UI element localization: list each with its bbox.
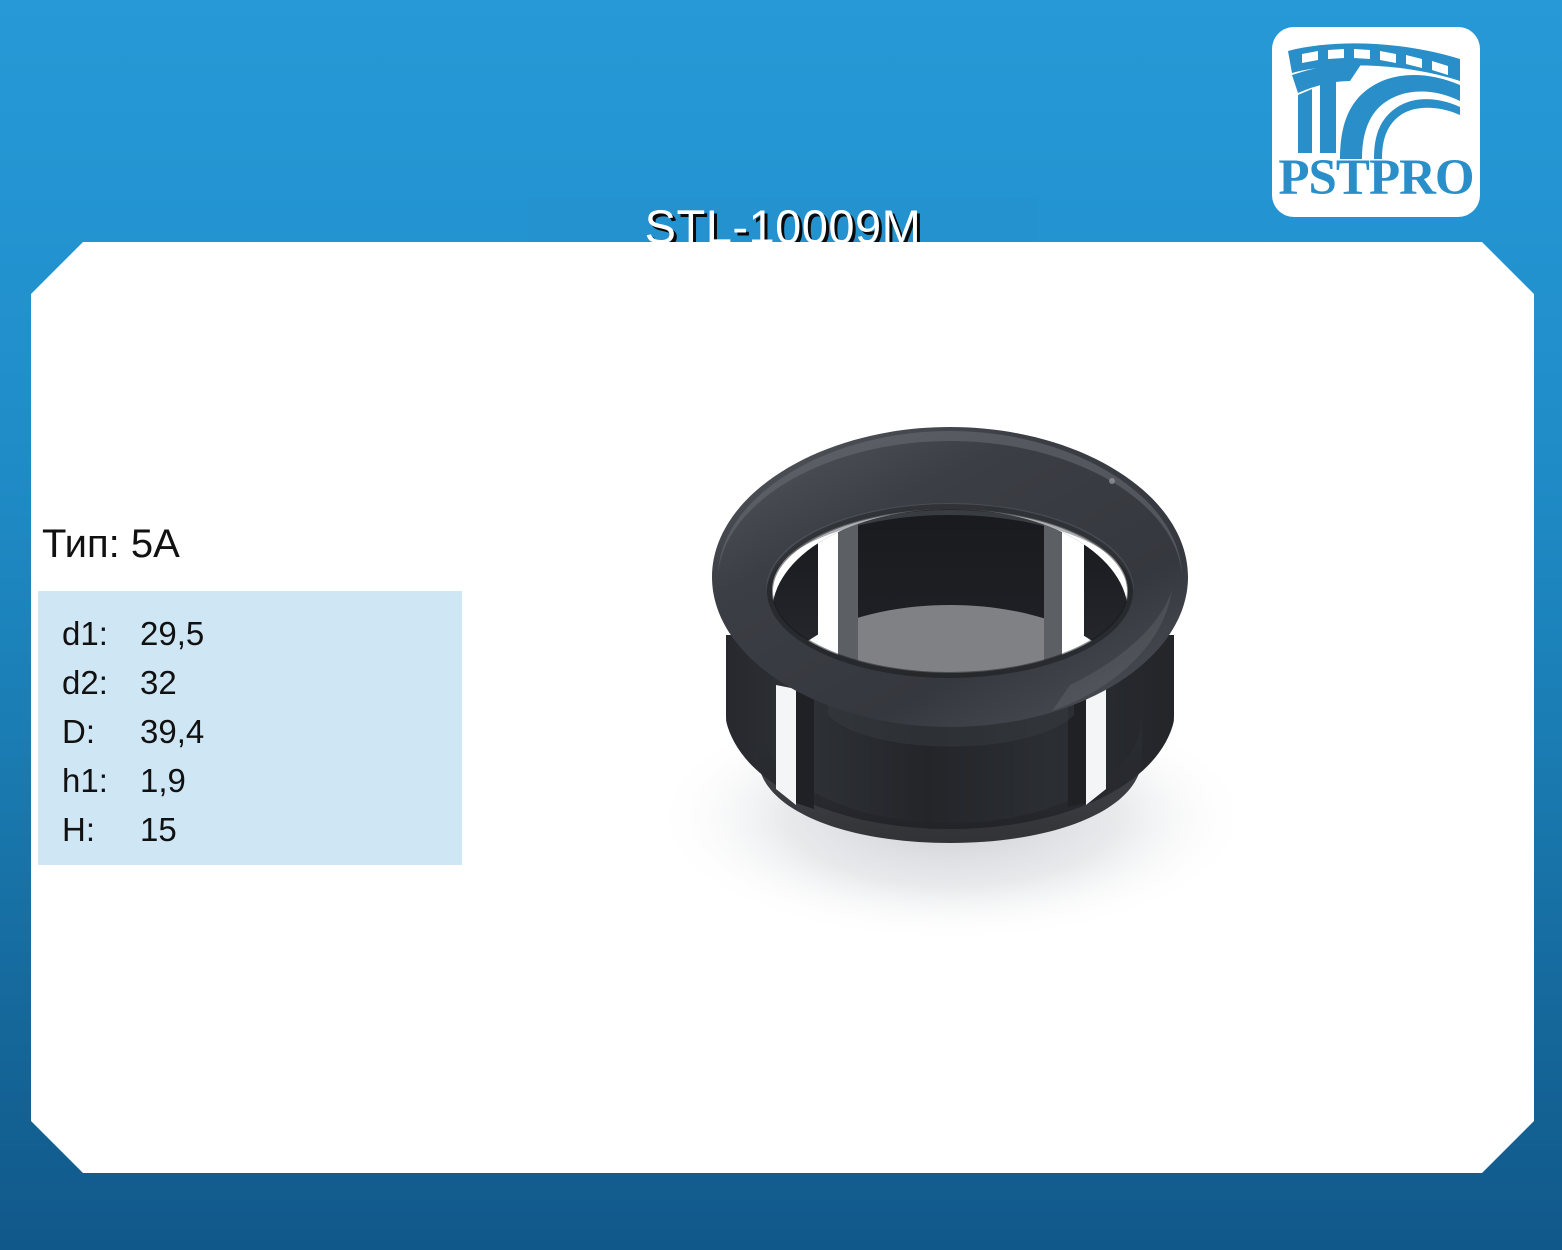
spec-key: h1: xyxy=(62,756,140,805)
spec-row: h1: 1,9 xyxy=(62,756,462,805)
spec-type-value: 5A xyxy=(131,522,180,566)
spec-type-heading: Тип: 5A xyxy=(42,524,180,564)
spec-row: d2: 32 xyxy=(62,658,462,707)
spec-row: D: 39,4 xyxy=(62,707,462,756)
spec-value: 32 xyxy=(140,658,462,707)
brand-wordmark: PSTPRO xyxy=(1272,153,1480,204)
spec-key: d1: xyxy=(62,609,140,658)
spec-value: 39,4 xyxy=(140,707,462,756)
bushing-ring-image xyxy=(600,385,1300,945)
spec-type-label: Тип: xyxy=(42,522,120,566)
road-bridge-icon xyxy=(1282,35,1470,159)
spec-value: 29,5 xyxy=(140,609,462,658)
spec-row: d1: 29,5 xyxy=(62,609,462,658)
spec-key: H: xyxy=(62,805,140,854)
product-photo xyxy=(600,385,1300,945)
product-spec-card: PSTPRO STL-10009M Тип: 5A d1: 29,5 d2: 3… xyxy=(0,0,1562,1250)
spec-value: 15 xyxy=(140,805,462,854)
spec-value: 1,9 xyxy=(140,756,462,805)
spec-key: d2: xyxy=(62,658,140,707)
brand-logo: PSTPRO xyxy=(1272,27,1480,217)
spec-key: D: xyxy=(62,707,140,756)
spec-row: H: 15 xyxy=(62,805,462,854)
spec-table: d1: 29,5 d2: 32 D: 39,4 h1: 1,9 H: 15 xyxy=(38,591,462,865)
